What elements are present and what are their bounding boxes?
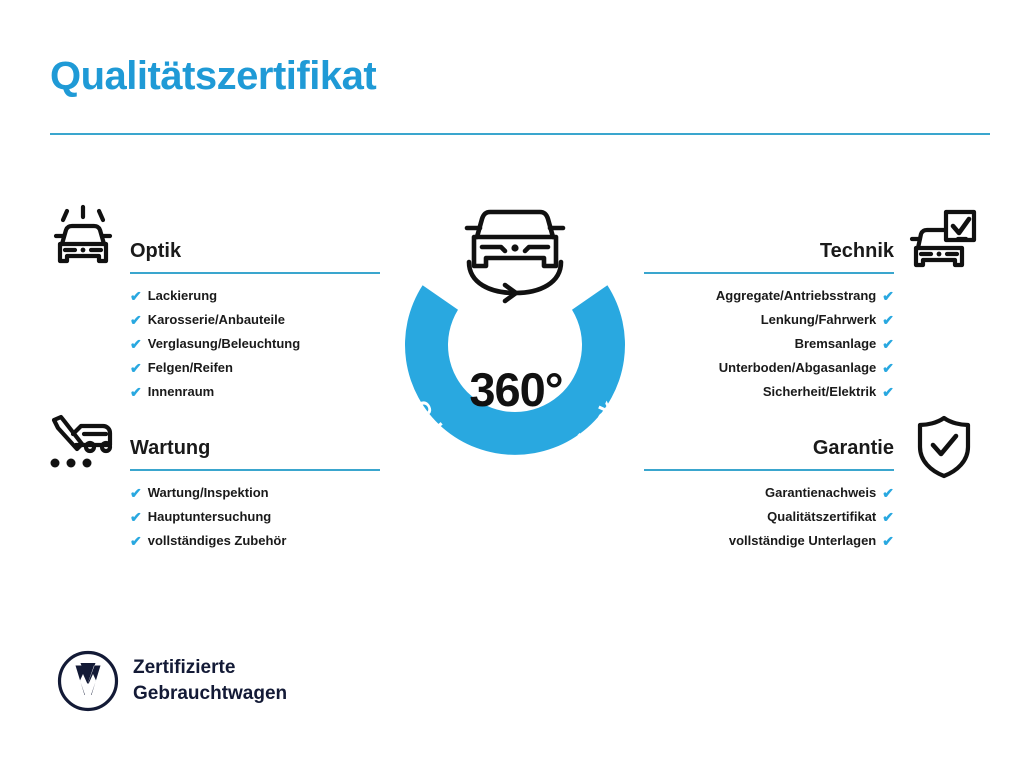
list-item: ✔Karosserie/Anbauteile bbox=[130, 308, 380, 332]
check-icon: ✔ bbox=[882, 481, 894, 505]
list-item: ✔Felgen/Reifen bbox=[130, 356, 380, 380]
check-icon: ✔ bbox=[130, 380, 142, 404]
section-wartung-list: ✔Wartung/Inspektion ✔Hauptuntersuchung ✔… bbox=[130, 481, 380, 553]
section-optik-list: ✔Lackierung ✔Karosserie/Anbauteile ✔Verg… bbox=[130, 284, 380, 404]
check-icon: ✔ bbox=[130, 284, 142, 308]
section-technik: Technik Aggregate/Antriebsstrang✔ Lenkun… bbox=[644, 238, 894, 404]
section-garantie-header: Garantie bbox=[644, 435, 894, 471]
section-technik-underline bbox=[644, 272, 894, 274]
list-item-label: Felgen/Reifen bbox=[148, 356, 233, 380]
check-icon: ✔ bbox=[130, 529, 142, 553]
section-garantie-list: Garantienachweis✔ Qualitätszertifikat✔ v… bbox=[644, 481, 894, 553]
list-item-label: Unterboden/Abgasanlage bbox=[719, 356, 876, 380]
section-optik-header: Optik bbox=[130, 238, 380, 274]
list-item: Sicherheit/Elektrik✔ bbox=[644, 380, 894, 404]
list-item-label: vollständige Unterlagen bbox=[729, 529, 876, 553]
footer-branding: Zertifizierte Gebrauchtwagen bbox=[57, 650, 287, 712]
section-garantie-underline bbox=[644, 469, 894, 471]
list-item: Unterboden/Abgasanlage✔ bbox=[644, 356, 894, 380]
list-item-label: Qualitätszertifikat bbox=[767, 505, 876, 529]
section-wartung-underline bbox=[130, 469, 380, 471]
list-item-label: Verglasung/Beleuchtung bbox=[148, 332, 300, 356]
section-garantie: Garantie Garantienachweis✔ Qualitätszert… bbox=[644, 435, 894, 553]
list-item-label: Aggregate/Antriebsstrang bbox=[716, 284, 876, 308]
check-icon: ✔ bbox=[882, 308, 894, 332]
list-item-label: Hauptuntersuchung bbox=[148, 505, 272, 529]
list-item: Bremsanlage✔ bbox=[644, 332, 894, 356]
vw-logo bbox=[57, 650, 119, 712]
list-item-label: Garantienachweis bbox=[765, 481, 876, 505]
list-item: Garantienachweis✔ bbox=[644, 481, 894, 505]
section-optik-underline bbox=[130, 272, 380, 274]
check-icon: ✔ bbox=[130, 481, 142, 505]
list-item: ✔Lackierung bbox=[130, 284, 380, 308]
section-technik-list: Aggregate/Antriebsstrang✔ Lenkung/Fahrwe… bbox=[644, 284, 894, 404]
car-rotation-icon bbox=[467, 212, 563, 301]
section-optik: Optik ✔Lackierung ✔Karosserie/Anbauteile… bbox=[130, 238, 380, 404]
check-icon: ✔ bbox=[130, 356, 142, 380]
list-item: ✔Hauptuntersuchung bbox=[130, 505, 380, 529]
section-technik-header: Technik bbox=[644, 238, 894, 274]
check-icon: ✔ bbox=[882, 529, 894, 553]
section-optik-title: Optik bbox=[130, 238, 380, 264]
check-icon: ✔ bbox=[130, 332, 142, 356]
shield-check-icon bbox=[913, 414, 975, 485]
check-icon: ✔ bbox=[882, 505, 894, 529]
section-garantie-title: Garantie bbox=[644, 435, 894, 461]
section-wartung-title: Wartung bbox=[130, 435, 380, 461]
section-wartung: Wartung ✔Wartung/Inspektion ✔Hauptunters… bbox=[130, 435, 380, 553]
list-item: Aggregate/Antriebsstrang✔ bbox=[644, 284, 894, 308]
list-item: ✔Innenraum bbox=[130, 380, 380, 404]
vw-wordmark-line2: Gebrauchtwagen bbox=[133, 681, 287, 707]
check-icon: ✔ bbox=[130, 308, 142, 332]
list-item-label: vollständiges Zubehör bbox=[148, 529, 287, 553]
list-item-label: Lenkung/Fahrwerk bbox=[761, 308, 877, 332]
vw-wordmark: Zertifizierte Gebrauchtwagen bbox=[133, 655, 287, 707]
list-item-label: Wartung/Inspektion bbox=[148, 481, 269, 505]
check-icon: ✔ bbox=[882, 284, 894, 308]
check-icon: ✔ bbox=[130, 505, 142, 529]
car-shine-icon bbox=[46, 203, 120, 282]
badge-360-gebrauchtwagen-check: Gebrauchtwagen-Check 360° bbox=[372, 190, 658, 490]
car-checkbox-icon bbox=[908, 208, 978, 281]
section-wartung-header: Wartung bbox=[130, 435, 380, 471]
check-icon: ✔ bbox=[882, 356, 894, 380]
list-item-label: Sicherheit/Elektrik bbox=[763, 380, 876, 404]
vw-wordmark-line1: Zertifizierte bbox=[133, 655, 287, 681]
list-item: ✔Verglasung/Beleuchtung bbox=[130, 332, 380, 356]
wrench-car-icon bbox=[46, 414, 118, 481]
page-title: Qualitätszertifikat bbox=[50, 54, 376, 99]
list-item: ✔Wartung/Inspektion bbox=[130, 481, 380, 505]
section-technik-title: Technik bbox=[644, 238, 894, 264]
check-icon: ✔ bbox=[882, 380, 894, 404]
list-item: vollständige Unterlagen✔ bbox=[644, 529, 894, 553]
list-item-label: Lackierung bbox=[148, 284, 217, 308]
badge-ring-graphic: Gebrauchtwagen-Check bbox=[372, 190, 658, 490]
check-icon: ✔ bbox=[882, 332, 894, 356]
list-item: Qualitätszertifikat✔ bbox=[644, 505, 894, 529]
list-item: Lenkung/Fahrwerk✔ bbox=[644, 308, 894, 332]
title-divider bbox=[50, 133, 990, 135]
list-item-label: Bremsanlage bbox=[795, 332, 877, 356]
list-item: ✔vollständiges Zubehör bbox=[130, 529, 380, 553]
list-item-label: Karosserie/Anbauteile bbox=[148, 308, 285, 332]
list-item-label: Innenraum bbox=[148, 380, 214, 404]
